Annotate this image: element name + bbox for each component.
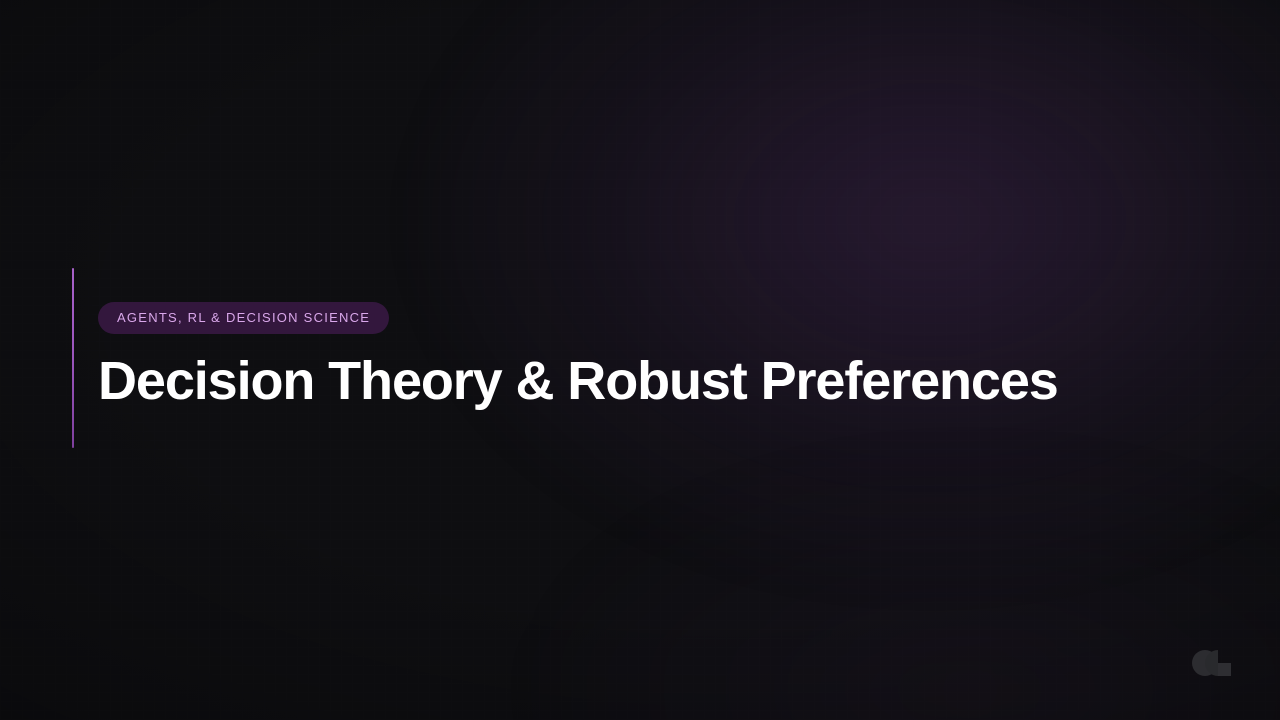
slide-canvas: AGENTS, RL & DECISION SCIENCE Decision T…: [0, 0, 1280, 720]
accent-bar: [72, 268, 74, 448]
brand-logo-mark: [1190, 646, 1236, 680]
title-block: AGENTS, RL & DECISION SCIENCE Decision T…: [72, 268, 1172, 448]
title-text-column: AGENTS, RL & DECISION SCIENCE Decision T…: [98, 268, 1058, 410]
slide-title: Decision Theory & Robust Preferences: [98, 353, 1058, 410]
background-glow-secondary: [560, 480, 1280, 720]
category-badge: AGENTS, RL & DECISION SCIENCE: [98, 302, 389, 334]
